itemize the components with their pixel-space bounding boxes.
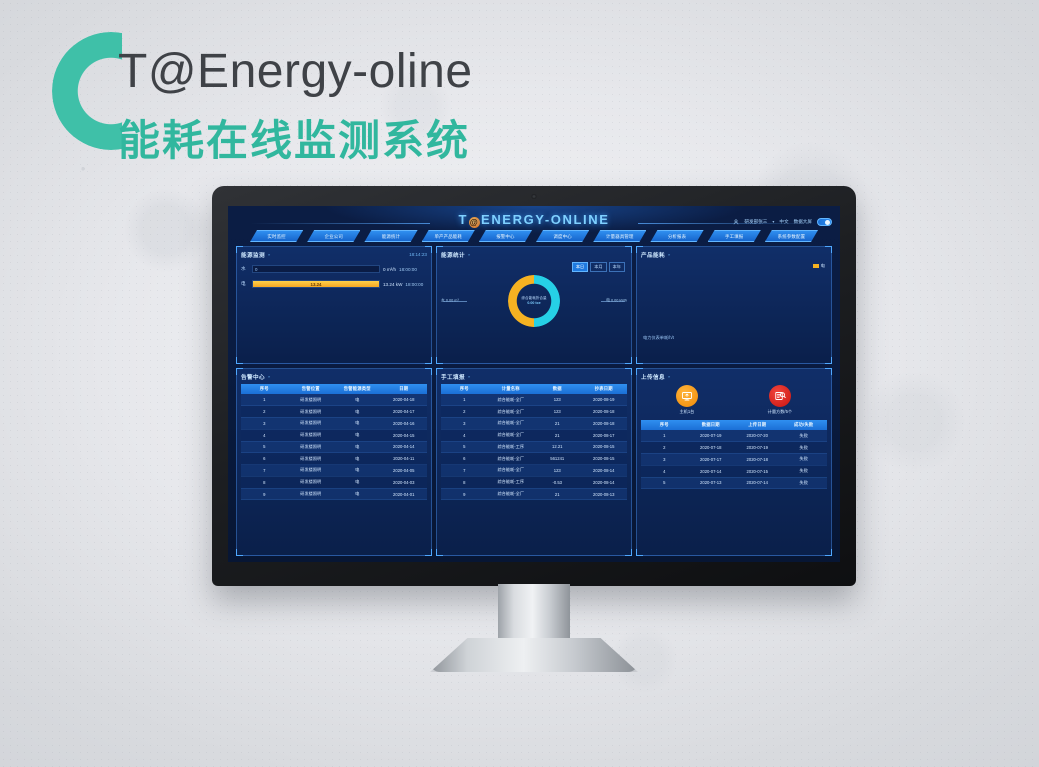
table-row[interactable]: 6研发楼照明电2020-04-11 (241, 453, 427, 465)
column-header: 序号 (241, 384, 288, 394)
table-cell: 9 (441, 488, 488, 500)
panel-header: 手工填报 » (441, 372, 627, 381)
more-icon[interactable]: » (668, 374, 670, 379)
manual-table-body: 1综合能耗-全厂1232020-08-192综合能耗-全厂1232020-08-… (441, 394, 627, 500)
bigscreen-label: 数据大屏 (794, 219, 812, 225)
bigscreen-toggle[interactable] (817, 218, 832, 226)
energy-time: 18:00:00 (399, 267, 417, 272)
table-cell: 综合能耗-工序 (488, 476, 535, 488)
table-cell: 研发楼照明 (288, 488, 335, 500)
table-cell: 9 (241, 488, 288, 500)
table-row[interactable]: 2综合能耗-全厂1232020-08-18 (441, 406, 627, 418)
table-cell: 综合能耗-全厂 (488, 417, 535, 429)
table-cell: 研发楼照明 (288, 394, 335, 405)
upload-stat-label: 计量方数/5个 (768, 409, 792, 415)
energy-rows: 水 0 0 m³/h 18:00:00 电 13.24 (241, 265, 427, 288)
table-cell: 研发楼照明 (288, 441, 335, 453)
table-cell: 21 (534, 488, 581, 500)
table-cell: 失败 (781, 453, 828, 465)
monitor-stand-neck (498, 584, 570, 646)
table-cell: 21 (534, 417, 581, 429)
table-cell: 2020-07-13 (688, 477, 735, 489)
table-cell: 2020-08-19 (581, 394, 628, 405)
chart-legend[interactable]: 电 (813, 263, 825, 269)
panel-header: 告警中心 » (241, 372, 427, 381)
table-row[interactable]: 4研发楼照明电2020-04-15 (241, 429, 427, 441)
monitor-mockup: T@ENERGY-ONLINE 研发部张三 ▾ 中文 数据大屏 实时监控 企业公… (212, 186, 856, 586)
panel-grid: 能源监测 » 18:14:23 水 0 0 m³/h 18:00:00 (236, 246, 832, 556)
alarm-table-scroll[interactable]: 序号告警位置告警能源类型日期 1研发楼照明电2020-04-182研发楼照明电2… (241, 381, 427, 549)
table-row[interactable]: 1综合能耗-全厂1232020-08-19 (441, 394, 627, 405)
column-header: 告警位置 (288, 384, 335, 394)
table-cell: 3 (241, 417, 288, 429)
column-header: 日期 (381, 384, 428, 394)
table-cell: 8 (241, 476, 288, 488)
table-row[interactable]: 5研发楼照明电2020-04-14 (241, 441, 427, 453)
table-cell: 2020-07-17 (688, 453, 735, 465)
table-cell: 2 (441, 406, 488, 418)
more-icon[interactable]: » (668, 252, 670, 257)
table-cell: 2020-04-18 (381, 394, 428, 405)
table-cell: 2 (241, 406, 288, 418)
table-cell: 2020-07-18 (734, 453, 781, 465)
user-bar[interactable]: 研发部张三 ▾ 中文 数据大屏 (733, 218, 832, 226)
table-cell: 2020-04-05 (381, 465, 428, 477)
table-row[interactable]: 32020-07-172020-07-18失败 (641, 453, 827, 465)
main-nav[interactable]: 实时监控 企业公司 能源统计 单产产品能耗 报警中心 调度中心 计量器具管理 分… (250, 230, 818, 242)
upload-table-body: 12020-07-192020-07-20失败22020-07-182020-0… (641, 430, 827, 488)
dashboard-title-rest: ENERGY-ONLINE (481, 212, 609, 227)
manual-entry-table: 序号计量名称数据抄表日期 1综合能耗-全厂1232020-08-192综合能耗-… (441, 384, 627, 500)
document-search-icon (769, 385, 791, 407)
table-cell: 5 (241, 441, 288, 453)
table-cell: 综合能耗-全厂 (488, 429, 535, 441)
table-row[interactable]: 9综合能耗-全厂212020-08-13 (441, 488, 627, 500)
table-cell: 综合能耗-全厂 (488, 465, 535, 477)
table-cell: 2020-04-14 (381, 441, 428, 453)
energy-bar-track: 0 (252, 265, 380, 273)
energy-time: 18:00:00 (405, 282, 423, 287)
table-cell: 12.21 (534, 441, 581, 453)
table-cell: 4 (441, 429, 488, 441)
table-cell: 2020-08-13 (581, 488, 628, 500)
at-logo-icon: @ (469, 217, 480, 228)
table-cell: 2020-08-14 (581, 476, 628, 488)
brand-title: T@Energy-oline (118, 44, 473, 99)
table-cell: 123 (534, 406, 581, 418)
table-cell: 2020-07-19 (688, 430, 735, 441)
donut-center-value: 0.00 tce (521, 301, 546, 306)
table-cell: 失败 (781, 442, 828, 454)
panel-upload-info: 上传信息 » 主机1台 (636, 368, 832, 556)
table-cell: 21 (534, 429, 581, 441)
panel-header: 能源统计 » (441, 250, 627, 259)
column-header: 数据日期 (688, 420, 735, 430)
user-icon (733, 219, 739, 225)
table-cell: 1 (441, 394, 488, 405)
donut-center-label: 综合能耗折合量 0.00 tce (521, 296, 546, 306)
table-cell: 电 (334, 441, 381, 453)
table-cell: 7 (441, 465, 488, 477)
energy-bar-value: 0 (255, 266, 257, 274)
table-cell: 2020-07-15 (734, 465, 781, 477)
table-cell: 电 (334, 465, 381, 477)
donut-chart: 水 0.00 m³ 电 0.00 kWh 综合能耗折合量 0.00 tce (437, 275, 631, 327)
table-cell: 研发楼照明 (288, 406, 335, 418)
table-cell: 7 (241, 465, 288, 477)
column-header: 抄表日期 (581, 384, 628, 394)
table-cell: 2020-08-18 (581, 406, 628, 418)
more-icon[interactable]: » (468, 374, 470, 379)
nav-item-0[interactable]: 实时监控 (250, 230, 303, 242)
clock-label: 18:14:23 (409, 252, 427, 257)
table-cell: 综合能耗-工序 (488, 441, 535, 453)
logo-c-ring-icon (52, 32, 122, 150)
table-cell: 电 (334, 488, 381, 500)
more-icon[interactable]: » (468, 252, 470, 257)
chevron-down-icon[interactable]: ▾ (772, 219, 774, 224)
upload-stat-meters[interactable]: 计量方数/5个 (768, 385, 792, 415)
table-cell: 5 (441, 441, 488, 453)
table-cell: 2020-07-18 (688, 442, 735, 454)
table-cell: 电 (334, 406, 381, 418)
energy-reading: 0 m³/h (383, 267, 396, 272)
table-cell: 电 (334, 429, 381, 441)
table-row[interactable]: 2研发楼照明电2020-04-17 (241, 406, 427, 418)
energy-row-label: 水 (241, 266, 249, 272)
table-cell: 8 (441, 476, 488, 488)
column-header: 上传日期 (734, 420, 781, 430)
table-cell: 2020-08-15 (581, 453, 628, 465)
table-cell: 2020-07-19 (734, 442, 781, 454)
nav-item-3[interactable]: 单产产品能耗 (422, 230, 475, 242)
table-cell: 2 (641, 442, 688, 454)
manual-table-scroll[interactable]: 序号计量名称数据抄表日期 1综合能耗-全厂1232020-08-192综合能耗-… (441, 381, 627, 549)
tab-day[interactable]: 本日 (572, 262, 588, 272)
brand-subtitle: 能耗在线监测系统 (118, 107, 470, 168)
brand-block: T@Energy-oline 能耗在线监测系统 (52, 22, 612, 152)
table-cell: 123 (534, 394, 581, 405)
panel-header: 能源监测 » 18:14:23 (241, 250, 427, 259)
column-header: 成功/失败 (781, 420, 828, 430)
table-row[interactable]: 3综合能耗-全厂212020-08-18 (441, 417, 627, 429)
table-cell: 综合能耗-全厂 (488, 488, 535, 500)
legend-swatch-electric (813, 264, 819, 268)
table-cell: 综合能耗-全厂 (488, 394, 535, 405)
monitor-screen: T@ENERGY-ONLINE 研发部张三 ▾ 中文 数据大屏 实时监控 企业公… (228, 206, 840, 562)
table-cell: 失败 (781, 477, 828, 489)
panel-header: 上传信息 » (641, 372, 827, 381)
column-header: 告警能源类型 (334, 384, 381, 394)
energy-row-water: 水 0 0 m³/h 18:00:00 (241, 265, 427, 273)
table-row[interactable]: 52020-07-132020-07-14失败 (641, 477, 827, 489)
panel-title: 手工填报 (441, 373, 465, 381)
computer-upload-icon (676, 385, 698, 407)
table-row[interactable]: 1研发楼照明电2020-04-18 (241, 394, 427, 405)
upload-stat-host[interactable]: 主机1台 (676, 385, 698, 415)
language-label[interactable]: 中文 (779, 219, 788, 225)
energy-row-label: 电 (241, 281, 249, 287)
table-row[interactable]: 5综合能耗-工序12.212020-08-15 (441, 441, 627, 453)
dashboard-title-t: T (459, 212, 469, 227)
table-cell: 综合能耗-全厂 (488, 453, 535, 465)
panel-alarm-center: 告警中心 » 序号告警位置告警能源类型日期 1研发楼照明电2020-04-182… (236, 368, 432, 556)
table-cell: 2020-08-15 (581, 441, 628, 453)
table-cell: 研发楼照明 (288, 417, 335, 429)
table-cell: 2020-04-17 (381, 406, 428, 418)
table-cell: 2020-04-01 (381, 488, 428, 500)
donut-label-right: 电 0.00 kWh (606, 299, 627, 304)
table-row[interactable]: 42020-07-142020-07-15失败 (641, 465, 827, 477)
panel-title: 上传信息 (641, 373, 665, 381)
nav-item-1[interactable]: 企业公司 (307, 230, 360, 242)
table-cell: 2020-04-11 (381, 453, 428, 465)
tab-year[interactable]: 本年 (609, 262, 625, 272)
tab-month[interactable]: 本月 (590, 262, 606, 272)
nav-item-2[interactable]: 能源统计 (364, 230, 417, 242)
table-row[interactable]: 9研发楼照明电2020-04-01 (241, 488, 427, 500)
column-header: 序号 (441, 384, 488, 394)
more-icon[interactable]: » (268, 374, 270, 379)
legend-label-electric: 电 (821, 263, 825, 269)
table-cell: 6 (441, 453, 488, 465)
energy-row-electric: 电 13.24 13.24 kW 18:00:00 (241, 280, 427, 288)
upload-table: 序号数据日期上传日期成功/失败 12020-07-192020-07-20失败2… (641, 420, 827, 489)
table-cell: 4 (641, 465, 688, 477)
table-cell: 2020-08-14 (581, 465, 628, 477)
table-row[interactable]: 7研发楼照明电2020-04-05 (241, 465, 427, 477)
table-cell: 4 (241, 429, 288, 441)
table-cell: 2020-07-14 (688, 465, 735, 477)
table-row[interactable]: 8研发楼照明电2020-04-03 (241, 476, 427, 488)
nav-item-8[interactable]: 手工填报 (708, 230, 761, 242)
nav-item-7[interactable]: 分析报表 (650, 230, 703, 242)
table-cell: 电 (334, 476, 381, 488)
table-cell: 研发楼照明 (288, 429, 335, 441)
table-cell: 5 (641, 477, 688, 489)
more-icon[interactable]: » (268, 252, 270, 257)
table-header-row: 序号数据日期上传日期成功/失败 (641, 420, 827, 430)
table-cell: 3 (641, 453, 688, 465)
dashboard: T@ENERGY-ONLINE 研发部张三 ▾ 中文 数据大屏 实时监控 企业公… (228, 206, 840, 562)
username-label: 研发部张三 (744, 219, 767, 225)
table-header-row: 序号告警位置告警能源类型日期 (241, 384, 427, 394)
panel-product-energy: 产品能耗 » 电 电力仪表单耗/h/t (636, 246, 832, 364)
panel-title: 能源统计 (441, 251, 465, 259)
column-header: 数据 (534, 384, 581, 394)
upload-table-scroll[interactable]: 序号数据日期上传日期成功/失败 12020-07-192020-07-20失败2… (641, 417, 827, 553)
upload-stat-label: 主机1台 (676, 409, 698, 415)
table-cell: 2020-08-17 (581, 429, 628, 441)
table-cell: 电 (334, 417, 381, 429)
table-cell: 电 (334, 394, 381, 405)
table-cell: 6 (241, 453, 288, 465)
table-cell: 2020-07-14 (734, 477, 781, 489)
energy-bar-fill: 13.24 (253, 281, 379, 287)
table-cell: 失败 (781, 430, 828, 441)
stats-tab-group[interactable]: 本日 本月 本年 (572, 262, 625, 272)
table-cell: 2020-04-16 (381, 417, 428, 429)
table-cell: -0.53 (534, 476, 581, 488)
table-cell: 1 (241, 394, 288, 405)
table-row[interactable]: 12020-07-192020-07-20失败 (641, 430, 827, 441)
table-row[interactable]: 4综合能耗-全厂212020-08-17 (441, 429, 627, 441)
nav-item-9[interactable]: 系统参数配置 (765, 230, 818, 242)
table-cell: 1 (641, 430, 688, 441)
table-cell: 研发楼照明 (288, 465, 335, 477)
panel-title: 告警中心 (241, 373, 265, 381)
table-cell: 123 (534, 465, 581, 477)
column-header: 序号 (641, 420, 688, 430)
table-header-row: 序号计量名称数据抄表日期 (441, 384, 627, 394)
table-cell: 研发楼照明 (288, 476, 335, 488)
nav-item-4[interactable]: 报警中心 (479, 230, 532, 242)
product-axis-note: 电力仪表单耗/h/t (643, 335, 674, 341)
upload-stat-icons: 主机1台 计量方数/5个 (641, 385, 827, 415)
table-row[interactable]: 22020-07-182020-07-19失败 (641, 442, 827, 454)
alarm-table-body: 1研发楼照明电2020-04-182研发楼照明电2020-04-173研发楼照明… (241, 394, 427, 500)
energy-reading: 13.24 kW (383, 282, 402, 287)
table-cell: 2020-04-03 (381, 476, 428, 488)
webcam-icon (532, 194, 537, 199)
table-cell: 3 (441, 417, 488, 429)
panel-title: 产品能耗 (641, 251, 665, 259)
table-row[interactable]: 3研发楼照明电2020-04-16 (241, 417, 427, 429)
table-row[interactable]: 8综合能耗-工序-0.532020-08-14 (441, 476, 627, 488)
table-row[interactable]: 6综合能耗-全厂5612412020-08-15 (441, 453, 627, 465)
column-header: 计量名称 (488, 384, 535, 394)
table-row[interactable]: 7综合能耗-全厂1232020-08-14 (441, 465, 627, 477)
nav-item-5[interactable]: 调度中心 (536, 230, 589, 242)
table-cell: 研发楼照明 (288, 453, 335, 465)
table-cell: 综合能耗-全厂 (488, 406, 535, 418)
table-cell: 2020-07-20 (734, 430, 781, 441)
alarm-table: 序号告警位置告警能源类型日期 1研发楼照明电2020-04-182研发楼照明电2… (241, 384, 427, 500)
panel-manual-entry: 手工填报 » 序号计量名称数据抄表日期 1综合能耗-全厂1232020-08-1… (436, 368, 632, 556)
table-cell: 561241 (534, 453, 581, 465)
energy-bar-track: 13.24 (252, 280, 380, 288)
table-cell: 2020-04-15 (381, 429, 428, 441)
table-cell: 2020-08-18 (581, 417, 628, 429)
nav-item-6[interactable]: 计量器具管理 (593, 230, 646, 242)
panel-title: 能源监测 (241, 251, 265, 259)
panel-energy-stats: 能源统计 » 本日 本月 本年 水 0.00 m³ 电 0.00 kWh (436, 246, 632, 364)
table-cell: 失败 (781, 465, 828, 477)
donut-label-left: 水 0.00 m³ (441, 299, 459, 304)
panel-energy-monitor: 能源监测 » 18:14:23 水 0 0 m³/h 18:00:00 (236, 246, 432, 364)
panel-header: 产品能耗 » (641, 250, 827, 259)
table-cell: 电 (334, 453, 381, 465)
